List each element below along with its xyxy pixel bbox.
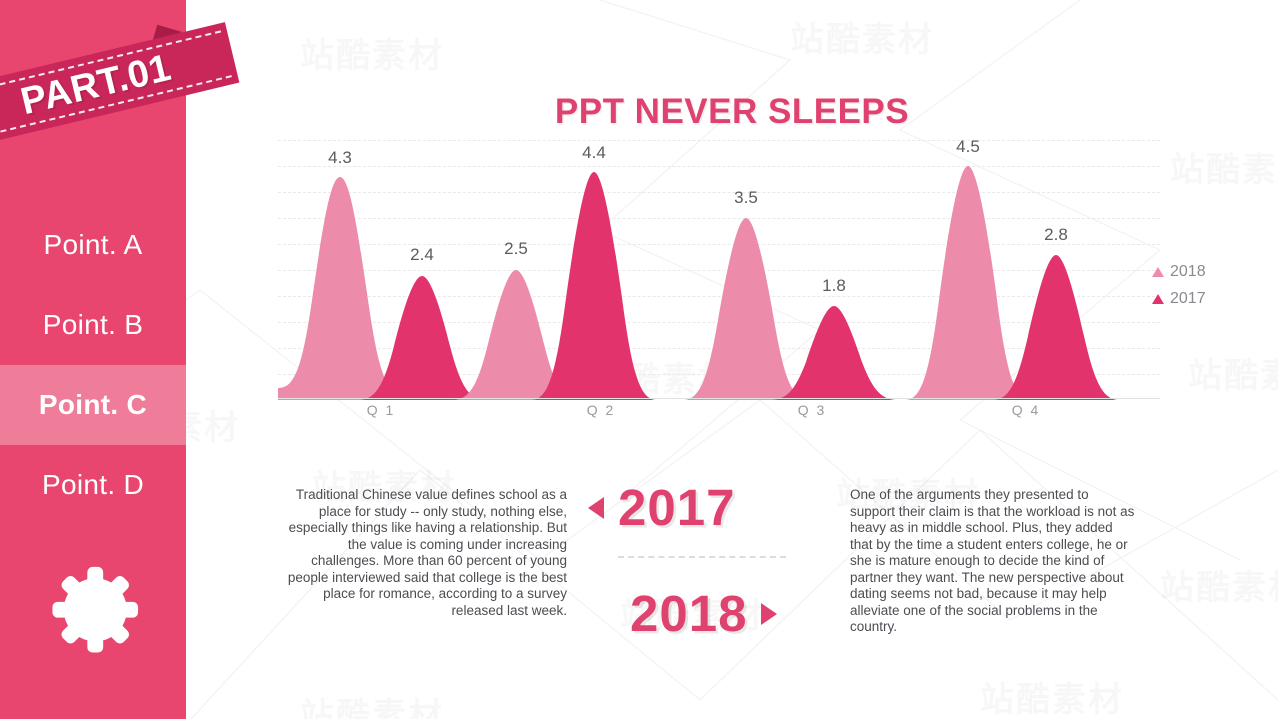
chart-x-axis: Q 1 Q 2 Q 3 Q 4	[278, 402, 1160, 430]
year-label: 2018	[630, 584, 747, 643]
paragraph-left: Traditional Chinese value defines school…	[282, 487, 567, 619]
watermark-text: 站酷素材	[1160, 560, 1278, 609]
x-tick-label: Q 1	[367, 402, 396, 418]
sidebar-item-label: Point. A	[44, 229, 143, 261]
data-label: 2.5	[504, 239, 528, 259]
paragraph-right: One of the arguments they presented to s…	[850, 487, 1135, 636]
sidebar-item-point-c[interactable]: Point. C	[0, 365, 186, 445]
year-2018-row[interactable]: 2018	[630, 584, 777, 643]
watermark-text: 站酷素材	[790, 12, 934, 61]
x-tick-label: Q 2	[587, 402, 616, 418]
legend-label: 2017	[1170, 290, 1206, 308]
curve-q3-2018	[684, 218, 808, 400]
triangle-up-icon	[1152, 294, 1164, 304]
sidebar-item-point-a[interactable]: Point. A	[0, 205, 186, 285]
data-label: 1.8	[822, 276, 846, 296]
area-chart: 4.3 2.4 2.5 4.4 3.5 1.8 4.5 2.8	[278, 140, 1160, 400]
data-label: 4.3	[328, 148, 352, 168]
ribbon-label: PART.01	[17, 46, 176, 123]
legend-item-2017[interactable]: 2017	[1152, 285, 1206, 312]
chart-legend: 2018 2017	[1152, 258, 1206, 312]
data-label: 4.4	[582, 143, 606, 163]
watermark-text: 站酷素材	[980, 672, 1124, 719]
curve-q4-2017	[994, 255, 1118, 400]
gear-icon	[41, 560, 145, 664]
slide-root: 站酷素材 站酷素材 站酷素材 站酷素材 站酷素材 站酷素材 站酷素材 站酷素材 …	[0, 0, 1278, 719]
data-label: 3.5	[734, 188, 758, 208]
data-label: 2.4	[410, 245, 434, 265]
chart-curves	[278, 140, 1160, 400]
year-divider	[618, 556, 786, 558]
year-2017-row[interactable]: 2017	[588, 478, 735, 537]
part-ribbon: PART.01	[0, 18, 246, 158]
gear-icon-container[interactable]	[0, 560, 186, 664]
arrow-left-icon	[588, 497, 604, 519]
sidebar-item-point-b[interactable]: Point. B	[0, 285, 186, 365]
sidebar-item-label: Point. D	[42, 469, 144, 501]
page-title: PPT NEVER SLEEPS	[186, 92, 1278, 132]
x-tick-label: Q 3	[798, 402, 827, 418]
legend-item-2018[interactable]: 2018	[1152, 258, 1206, 285]
watermark-text: 站酷素材	[1170, 142, 1278, 191]
curve-q2-2017	[532, 172, 656, 400]
watermark-text: 站酷素材	[300, 688, 444, 719]
sidebar-item-label: Point. B	[43, 309, 143, 341]
curve-q1-2018	[278, 177, 402, 400]
sidebar-item-label: Point. C	[39, 389, 147, 421]
watermark-text: 站酷素材	[1188, 348, 1278, 397]
chart-axis-line	[278, 398, 1160, 399]
arrow-right-icon	[761, 603, 777, 625]
year-comparison: 2017 2018	[580, 478, 830, 648]
year-label: 2017	[618, 478, 735, 537]
sidebar-item-point-d[interactable]: Point. D	[0, 445, 186, 525]
sidebar-nav: Point. A Point. B Point. C Point. D	[0, 205, 186, 525]
x-tick-label: Q 4	[1012, 402, 1041, 418]
ribbon-band: PART.01	[0, 22, 239, 148]
curve-q4-2018	[906, 166, 1030, 400]
data-label: 2.8	[1044, 225, 1068, 245]
legend-label: 2018	[1170, 263, 1206, 281]
watermark-text: 站酷素材	[300, 28, 444, 77]
data-label: 4.5	[956, 137, 980, 157]
triangle-up-icon	[1152, 267, 1164, 277]
